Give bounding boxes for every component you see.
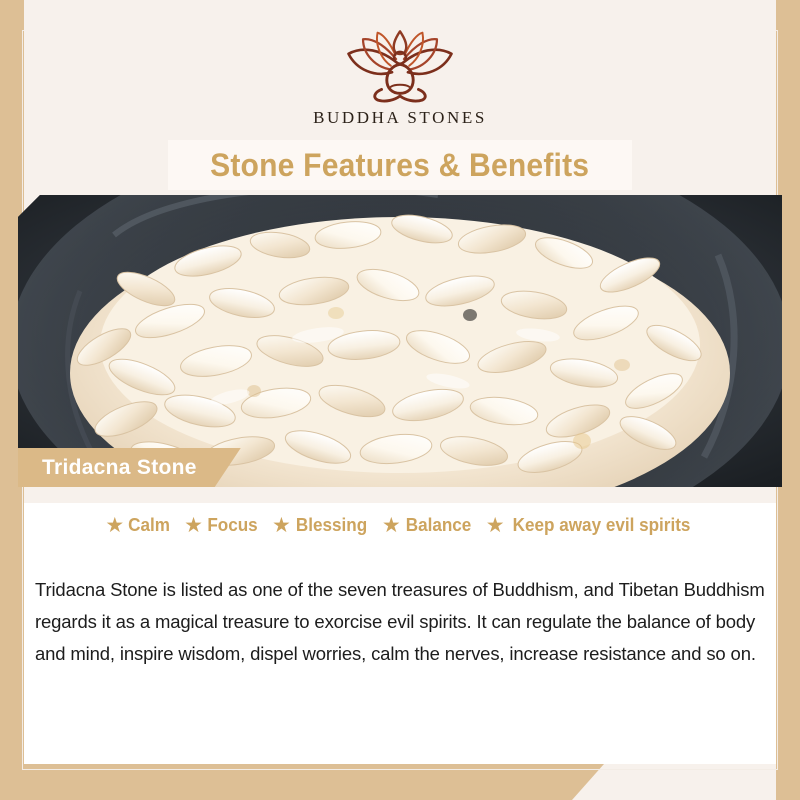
- benefit-item: ★ Focus: [184, 515, 259, 536]
- page-title: Stone Features & Benefits: [210, 147, 589, 184]
- benefit-item: ★ Blessing: [272, 515, 369, 536]
- benefit-item: ★ Balance: [382, 515, 473, 536]
- benefit-label: Blessing: [296, 515, 367, 536]
- star-icon: ★: [184, 515, 203, 536]
- brand-logo: BUDDHA STONES: [24, 26, 776, 128]
- frame-band-bottom: [0, 764, 604, 800]
- benefit-item: ★ Keep away evil spirits: [486, 515, 695, 536]
- content-panel: ★ Calm ★ Focus ★ Blessing ★ Balance ★ Ke…: [24, 487, 776, 764]
- benefits-list: ★ Calm ★ Focus ★ Blessing ★ Balance ★ Ke…: [24, 515, 776, 536]
- benefit-label: Calm: [128, 515, 170, 536]
- lotus-meditation-figure-icon: [334, 26, 466, 104]
- stone-name-label: Tridacna Stone: [42, 456, 197, 480]
- hero-image: [18, 195, 782, 487]
- stone-name-tag: Tridacna Stone: [18, 448, 241, 487]
- benefit-item: ★ Calm: [105, 515, 171, 536]
- star-icon: ★: [272, 515, 291, 536]
- brand-name: BUDDHA STONES: [313, 108, 487, 128]
- benefit-label: Keep away evil spirits: [512, 515, 690, 536]
- star-icon: ★: [382, 515, 401, 536]
- description-paragraph: Tridacna Stone is listed as one of the s…: [35, 574, 766, 670]
- product-feature-card: BUDDHA STONES Stone Features & Benefits: [0, 0, 800, 800]
- star-icon: ★: [105, 515, 124, 536]
- title-banner: Stone Features & Benefits: [168, 140, 632, 190]
- benefit-label: Balance: [405, 515, 471, 536]
- tridacna-stones-photo: [18, 195, 782, 487]
- star-icon: ★: [486, 515, 505, 536]
- content-divider: [24, 487, 776, 503]
- benefit-label: Focus: [207, 515, 257, 536]
